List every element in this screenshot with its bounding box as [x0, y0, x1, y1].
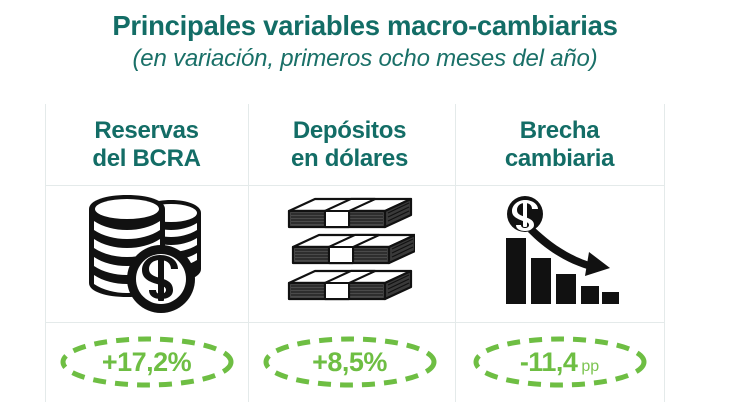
value-unit: pp — [577, 358, 599, 375]
grid-vline-right — [664, 104, 665, 402]
declining-bar-chart-dollar-icon — [455, 185, 664, 322]
infographic-root: Principales variables macro-cambiarias (… — [0, 0, 730, 410]
status-badge: -11,4pp — [471, 334, 649, 390]
header: Principales variables macro-cambiarias (… — [0, 0, 730, 96]
status-badge: +17,2% — [58, 334, 236, 390]
value-cell-depositos: +8,5% — [248, 322, 451, 402]
column-depositos: Depósitos en dólares — [248, 104, 451, 402]
page-title: Principales variables macro-cambiarias — [0, 0, 730, 42]
column-header-label: Reservas del BCRA — [92, 117, 200, 172]
status-badge: +8,5% — [261, 334, 439, 390]
coin-stacks-dollar-icon — [45, 185, 248, 322]
column-reservas: Reservas del BCRA — [45, 104, 248, 402]
value-label: -11,4pp — [520, 349, 599, 376]
banknote-bundles-icon — [248, 185, 451, 322]
value-cell-reservas: +17,2% — [45, 322, 248, 402]
column-header-label: Depósitos en dólares — [291, 117, 408, 172]
value-label: +17,2% — [102, 349, 191, 376]
comparison-grid: Reservas del BCRA — [45, 104, 665, 402]
column-header-depositos: Depósitos en dólares — [248, 104, 451, 185]
value-label: +8,5% — [312, 349, 387, 376]
column-header-brecha: Brecha cambiaria — [455, 104, 664, 185]
column-header-reservas: Reservas del BCRA — [45, 104, 248, 185]
value-cell-brecha: -11,4pp — [455, 322, 664, 402]
column-header-label: Brecha cambiaria — [505, 117, 614, 172]
page-subtitle: (en variación, primeros ocho meses del a… — [0, 42, 730, 73]
column-brecha: Brecha cambiaria — [455, 104, 664, 402]
